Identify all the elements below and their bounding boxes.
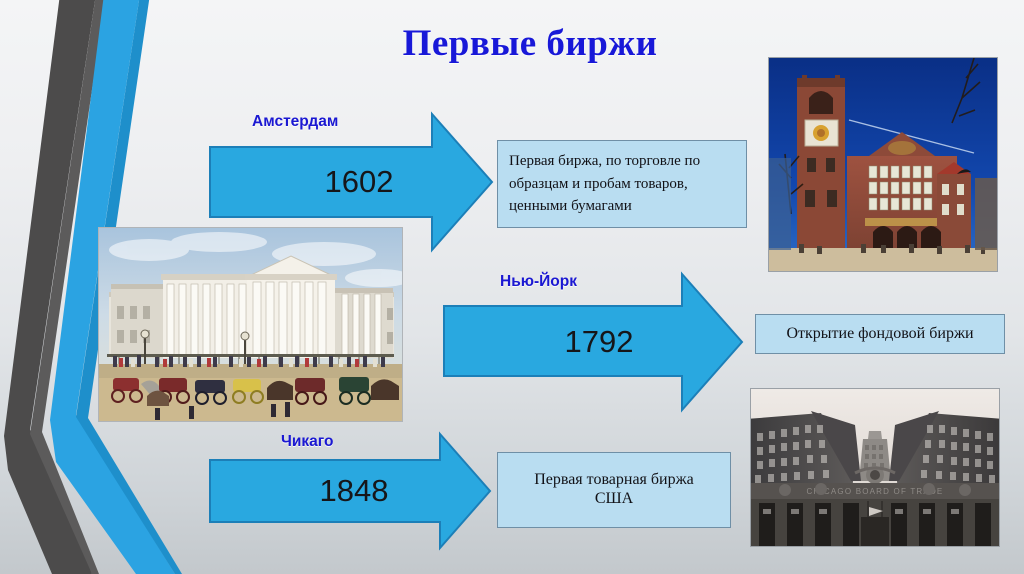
presentation-slide: Первые биржи Амстердам 1602 Первая биржа…: [0, 0, 1024, 574]
arrow-shape: [210, 434, 490, 548]
description-box-amsterdam: Первая биржа, по торговле по образцам и …: [497, 140, 747, 228]
arrow-shape: [444, 274, 742, 410]
description-box-chicago-line1: Первая товарная биржа: [506, 471, 722, 490]
arrow-newyork: 1792: [442, 272, 744, 412]
description-box-chicago-line2: США: [506, 490, 722, 509]
chevron-dark-stripe-shadow: [30, 0, 106, 574]
chicago-board-of-trade-photo: CHICAGO BOARD OF TRADE: [750, 388, 1000, 547]
svg-text:CHICAGO BOARD OF TRADE: CHICAGO BOARD OF TRADE: [807, 487, 944, 496]
historic-exchange-painting: [98, 227, 403, 422]
chevron-dark-stripe: [4, 0, 96, 574]
arrow-chicago: 1848: [208, 432, 492, 550]
description-box-newyork: Открытие фондовой биржи: [755, 314, 1005, 354]
amsterdam-exchange-photo: [768, 57, 998, 272]
description-box-chicago: Первая товарная биржа США: [497, 452, 731, 528]
